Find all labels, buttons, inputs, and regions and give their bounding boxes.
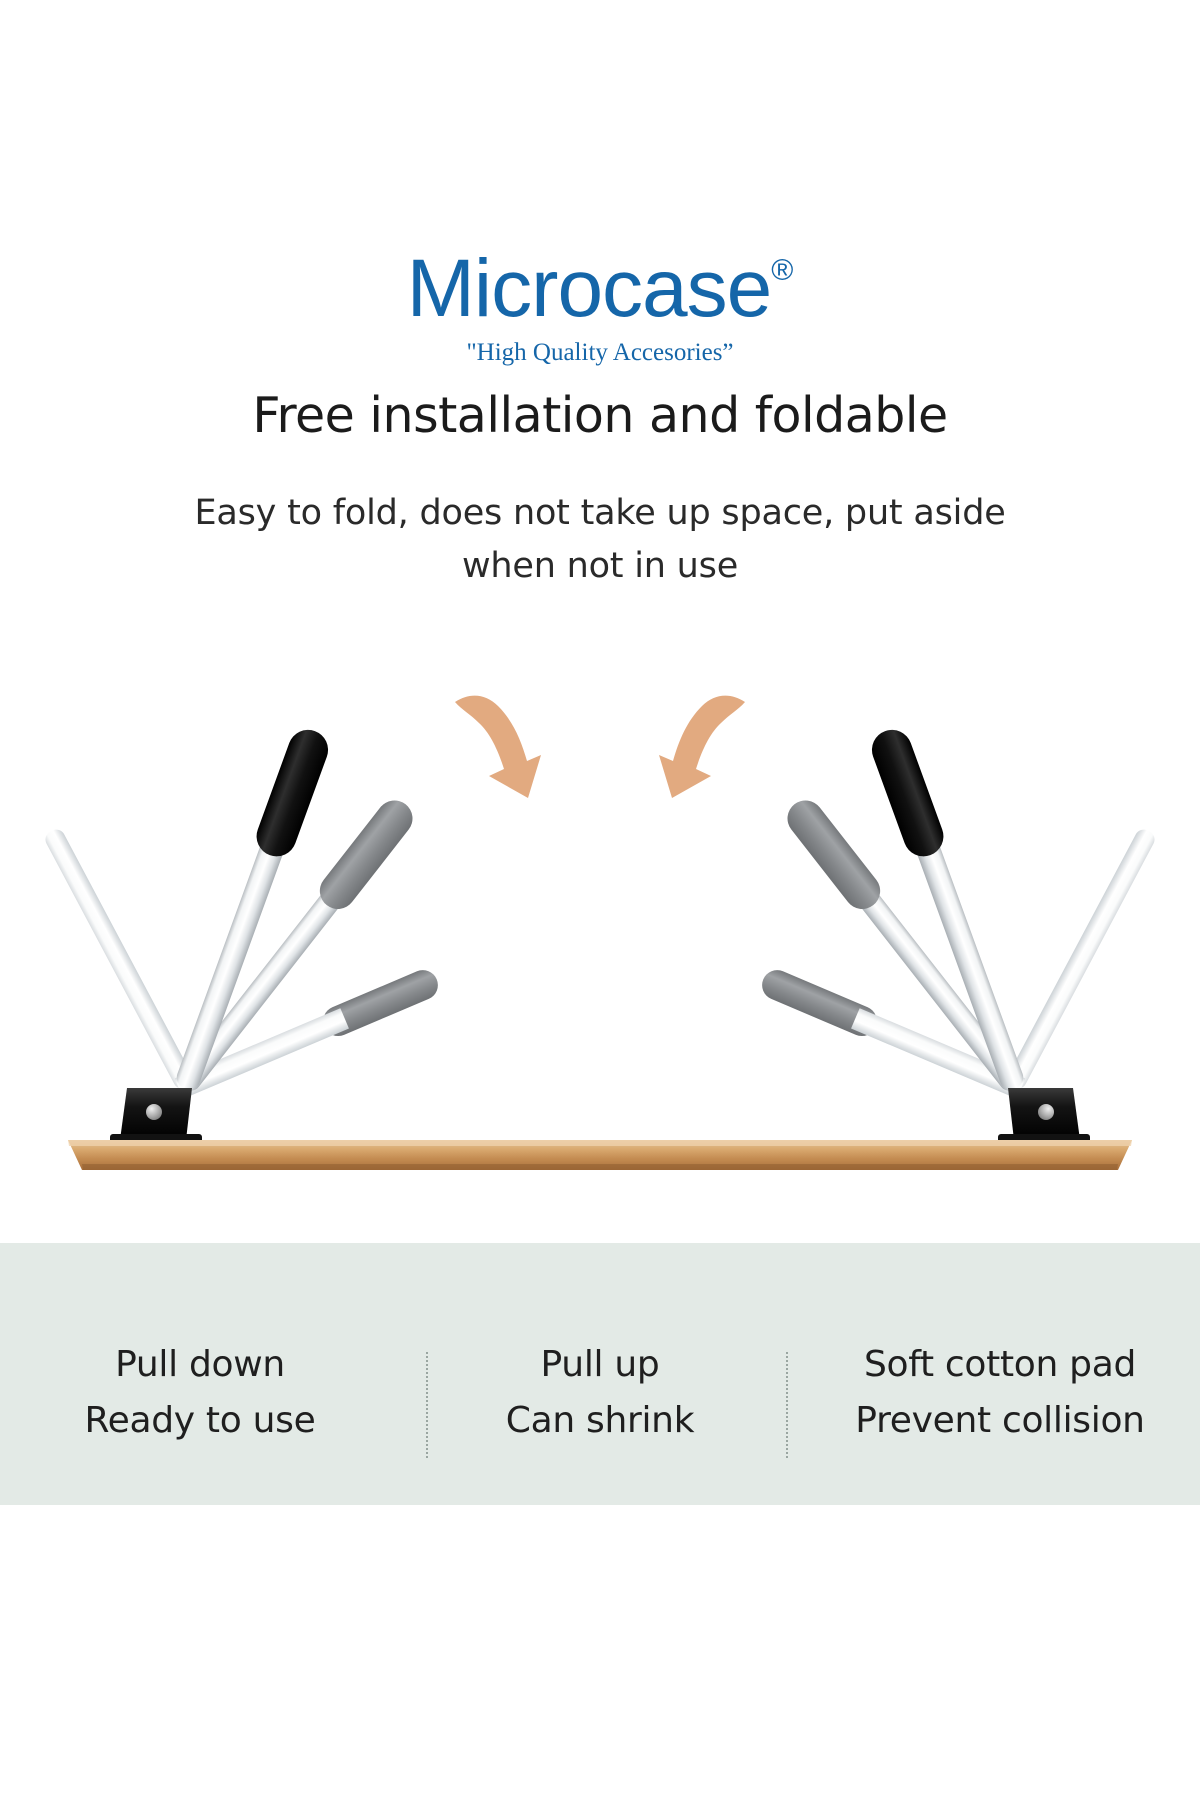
page-subtitle: Easy to fold, does not take up space, pu… (120, 487, 1080, 593)
product-feature-banner: Microcase® "High Quality Accesories” Fre… (0, 0, 1200, 1800)
product-illustration (0, 640, 1200, 1300)
brand-name: Microcase (407, 243, 772, 334)
caption-line-1: Soft cotton pad (800, 1337, 1200, 1393)
leg-assembly-left (42, 724, 442, 1148)
caption-line-2: Ready to use (0, 1393, 400, 1449)
caption-line-1: Pull down (0, 1337, 400, 1393)
caption-line-2: Prevent collision (800, 1393, 1200, 1449)
registered-trademark-icon: ® (771, 254, 793, 287)
caption-pull-up: Pull up Can shrink (400, 1337, 800, 1467)
caption-row: Pull down Ready to use Pull up Can shrin… (0, 1337, 1200, 1467)
page-title: Free installation and foldable (0, 388, 1200, 444)
leg-assembly-right (757, 724, 1157, 1148)
caption-pull-down: Pull down Ready to use (0, 1337, 400, 1467)
brand-logo: Microcase® (0, 248, 1200, 330)
hinge-bracket-right (998, 1088, 1090, 1148)
caption-line-2: Can shrink (400, 1393, 800, 1449)
caption-line-1: Pull up (400, 1337, 800, 1393)
wooden-board (68, 1140, 1132, 1170)
fold-arrow-right-icon (659, 696, 745, 798)
brand-tagline: "High Quality Accesories” (0, 339, 1200, 367)
hinge-bracket-left (110, 1088, 202, 1148)
fold-arrow-left-icon (455, 696, 541, 798)
subtitle-line-1: Easy to fold, does not take up space, pu… (194, 493, 1005, 533)
subtitle-line-2: when not in use (120, 540, 1080, 593)
caption-soft-cotton-pad: Soft cotton pad Prevent collision (800, 1337, 1200, 1467)
